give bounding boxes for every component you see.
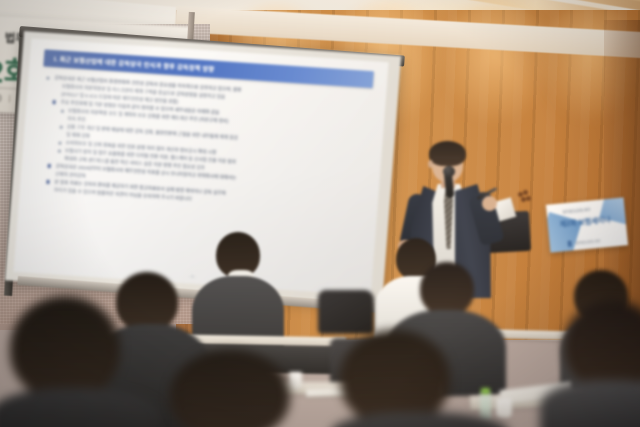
banner-date: 금) (0, 92, 2, 104)
audience-head (170, 350, 290, 427)
bag (318, 290, 374, 334)
event-placard: 법무법인(유한) 화우 제2회 보험세미나 법무법인(유한) 화우 (546, 197, 628, 252)
placard-event: 제2회 보험세미나 (559, 215, 611, 230)
banner-separator: | (8, 94, 11, 103)
audience-head (420, 262, 474, 316)
audience-head (10, 296, 120, 400)
audience-member-foreground (0, 296, 150, 427)
audience-member-foreground (150, 350, 340, 427)
placard-logo-icon (567, 240, 572, 246)
placard-org: 법무법인(유한) 화우 (562, 207, 591, 215)
speaker-glasses-icon (434, 157, 460, 164)
placard-logo-text: 법무법인(유한) 화우 (575, 239, 600, 245)
audience-member-foreground (540, 300, 640, 427)
seminar-photo: 법무법인(유한) 화우 2회 보험세미나 금) | 장소 : 화우연수원 | 주… (0, 0, 640, 427)
flower-arrangement-icon (516, 190, 532, 208)
speaker-ear (428, 160, 433, 168)
speaker-right-hand (482, 196, 497, 211)
audience-torso (0, 388, 160, 427)
microphone-icon (443, 166, 455, 177)
audience-member-foreground (330, 330, 510, 427)
audience-head (564, 300, 640, 390)
slide-title-text: I. 최근 보험산업에 대한 감독당국 인식과 향후 감독정책 방향 (44, 53, 215, 73)
audience-torso (540, 380, 640, 427)
